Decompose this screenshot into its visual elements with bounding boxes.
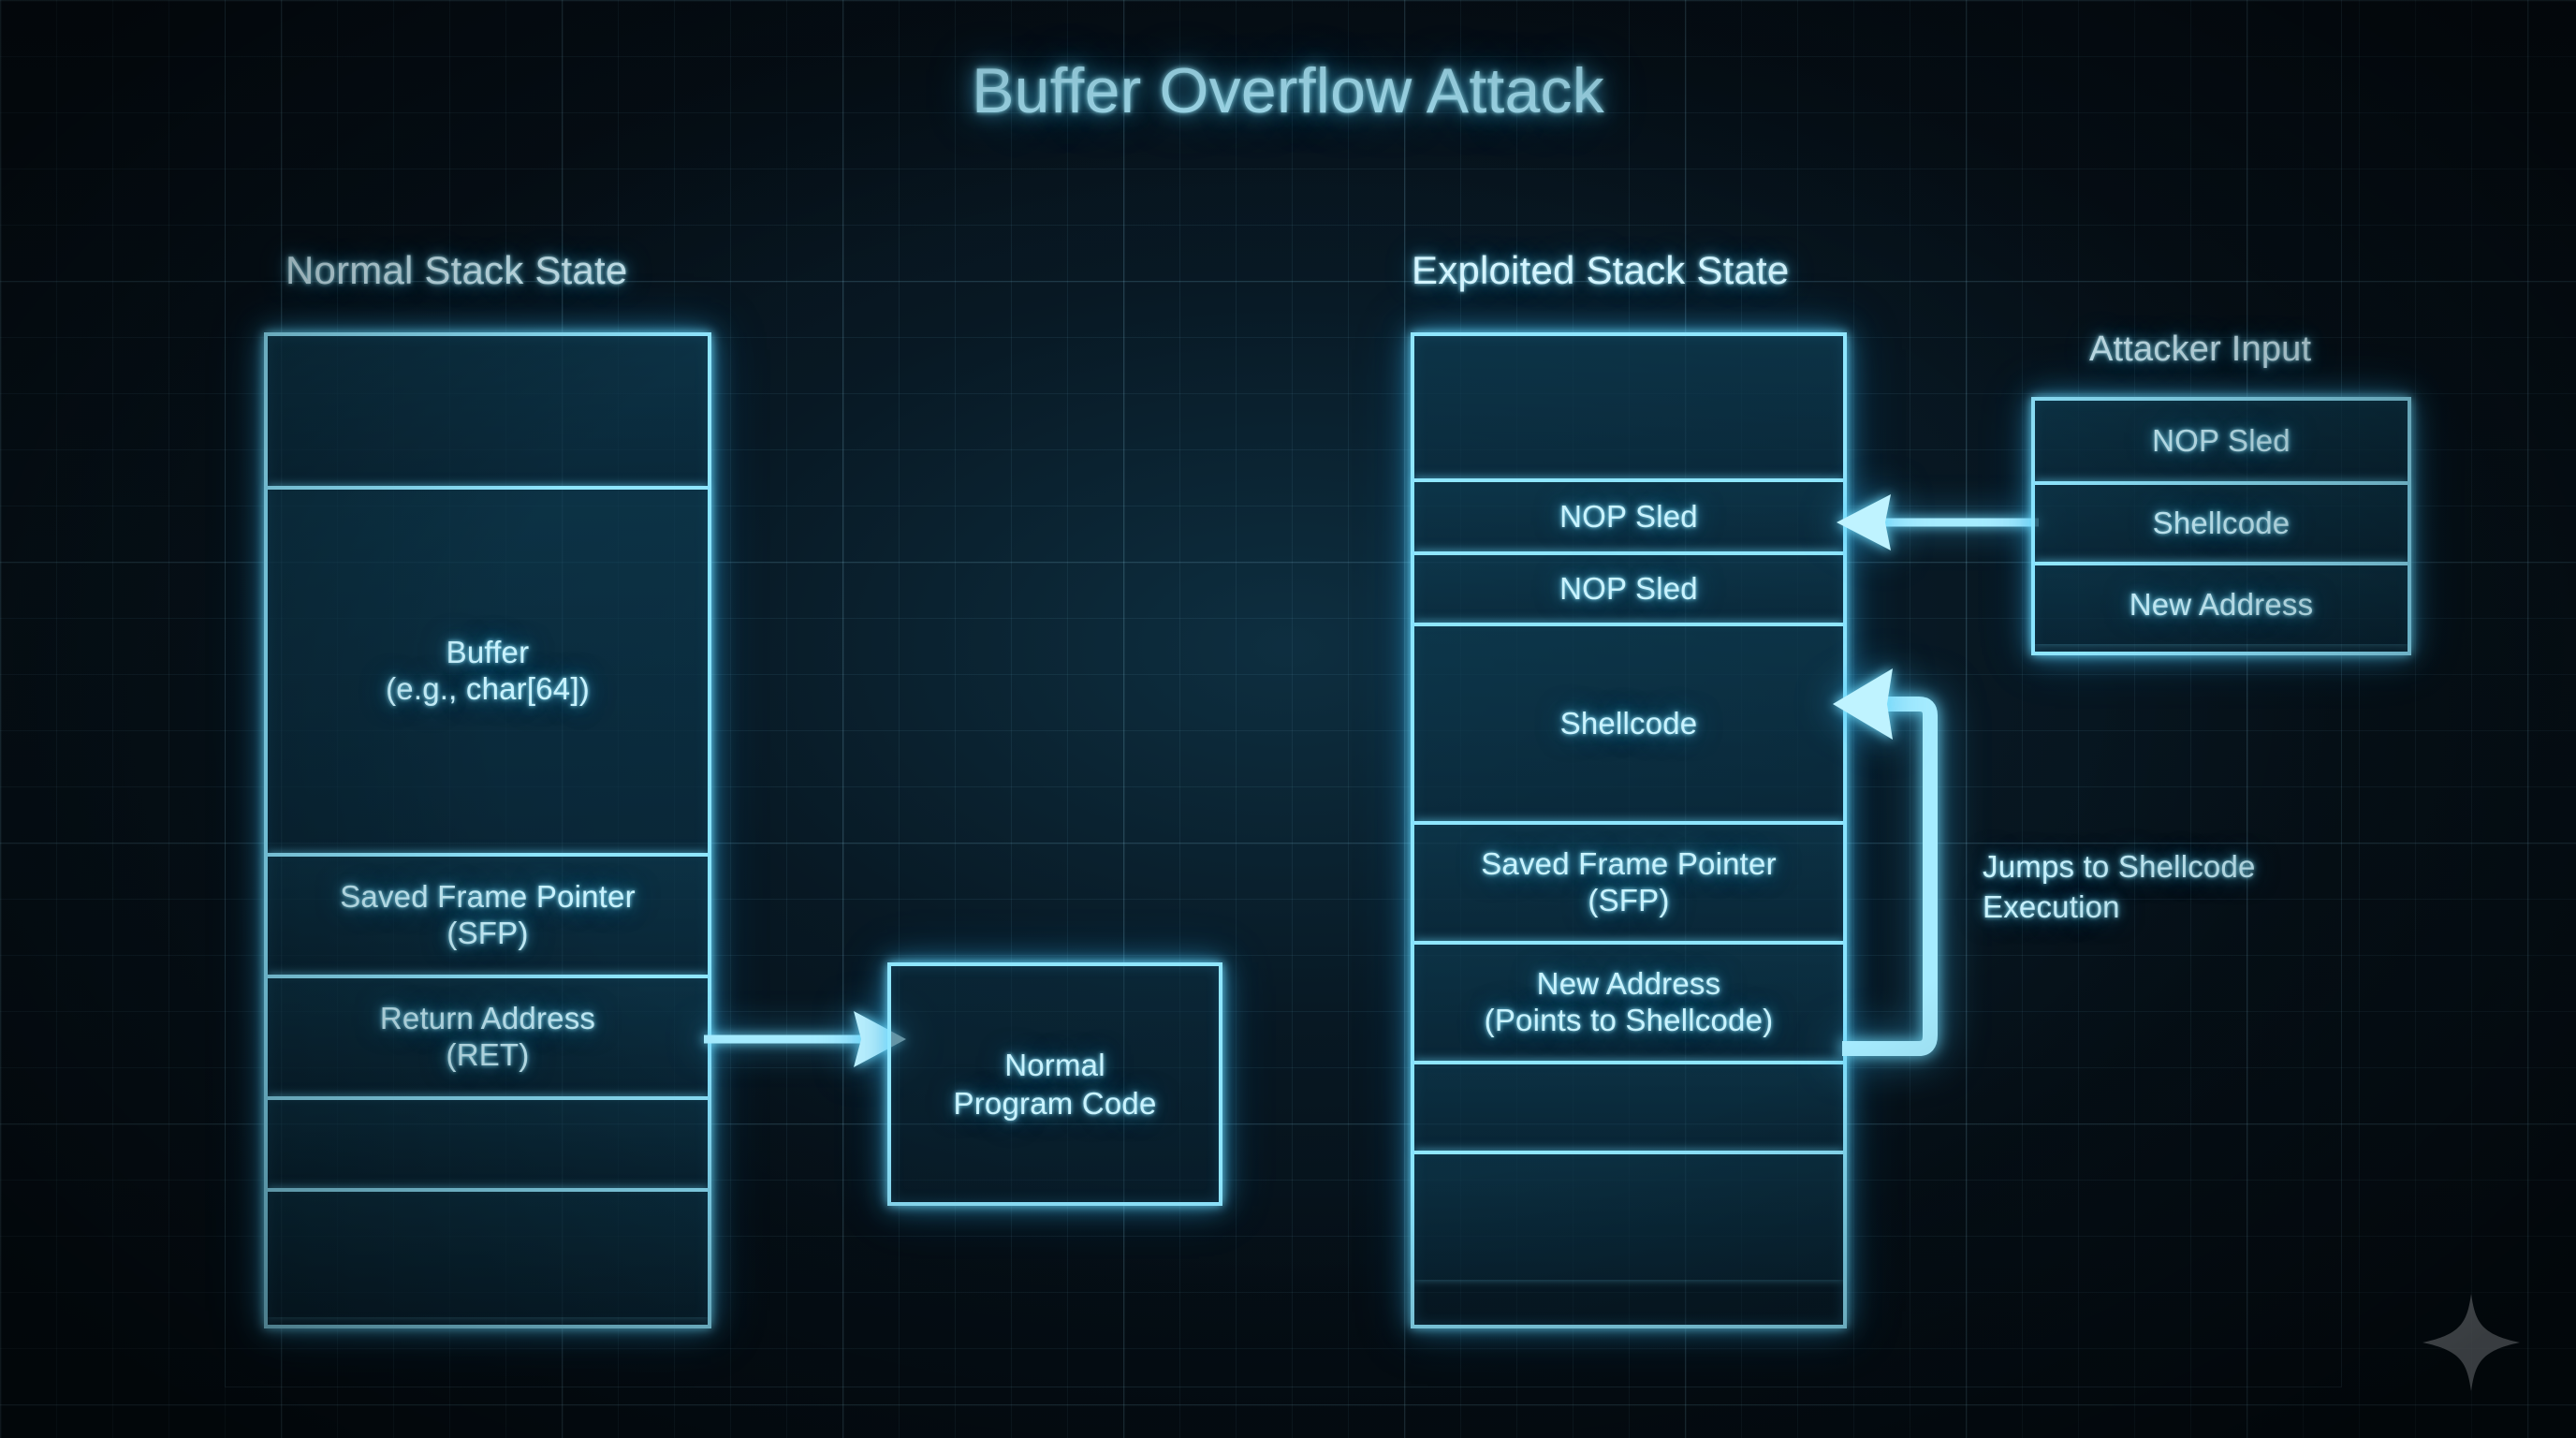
arrow-right-icon xyxy=(704,1002,910,1077)
exploited-stack-cell-nop-2: NOP Sled xyxy=(1414,551,1843,623)
diagram-canvas: Buffer Overflow Attack Normal Stack Stat… xyxy=(0,0,2576,1438)
page-title: Buffer Overflow Attack xyxy=(0,54,2576,127)
normal-stack-cell-empty-1 xyxy=(268,1096,708,1188)
exploited-stack-cell-shellcode: Shellcode xyxy=(1414,623,1843,821)
attacker-input-title: Attacker Input xyxy=(2089,330,2311,370)
exploited-stack-title: Exploited Stack State xyxy=(1412,248,1789,293)
exploited-stack-cell-empty-1 xyxy=(1414,1061,1843,1151)
normal-stack-cell-buffer: Buffer (e.g., char[64]) xyxy=(268,486,708,853)
attacker-input-cell-new-address: New Address xyxy=(2035,562,2408,644)
exploited-stack: NOP Sled NOP Sled Shellcode Saved Frame … xyxy=(1411,332,1847,1328)
sparkle-icon xyxy=(2421,1290,2522,1395)
normal-stack-cell-sfp: Saved Frame Pointer (SFP) xyxy=(268,853,708,975)
exploited-stack-cell-empty-2 xyxy=(1414,1151,1843,1280)
normal-stack-cell-ret: Return Address (RET) xyxy=(268,975,708,1096)
attacker-input-cell-nop-sled: NOP Sled xyxy=(2035,401,2408,481)
exploited-stack-cell-empty-top xyxy=(1414,336,1843,478)
attacker-input-cell-shellcode: Shellcode xyxy=(2035,481,2408,562)
normal-stack-cell-empty-top xyxy=(268,336,708,486)
arrow-left-icon xyxy=(1833,487,2039,562)
jump-annotation-label: Jumps to Shellcode Execution xyxy=(1983,847,2413,928)
attacker-input-box: NOP Sled Shellcode New Address xyxy=(2031,397,2411,655)
normal-stack: Buffer (e.g., char[64]) Saved Frame Poin… xyxy=(264,332,711,1328)
exploited-stack-cell-sfp: Saved Frame Pointer (SFP) xyxy=(1414,821,1843,941)
normal-program-code-box: Normal Program Code xyxy=(887,962,1222,1206)
normal-stack-title: Normal Stack State xyxy=(285,248,627,293)
exploited-stack-cell-nop-1: NOP Sled xyxy=(1414,478,1843,551)
normal-stack-cell-empty-2 xyxy=(268,1188,708,1317)
exploited-stack-cell-new-address: New Address (Points to Shellcode) xyxy=(1414,941,1843,1061)
